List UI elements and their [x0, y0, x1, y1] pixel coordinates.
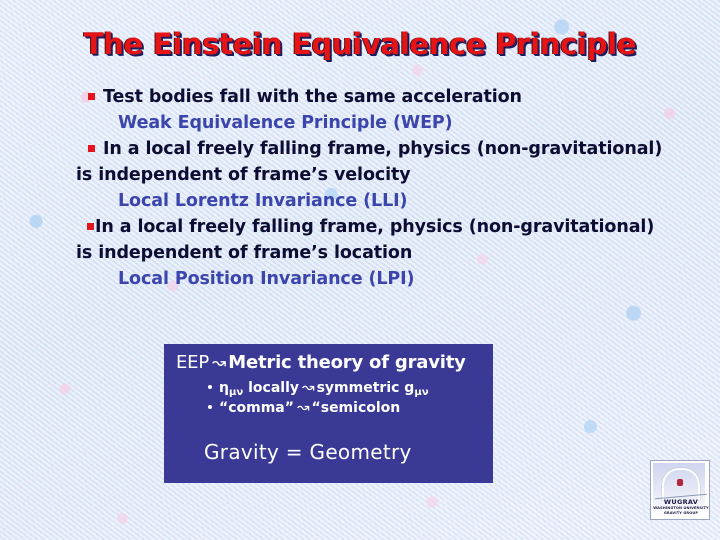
wugrav-logo: WUGRAV WASHINGTON UNIVERSITY GRAVITY GRO…: [650, 460, 710, 520]
eep-sub-2-rhs-base: “semicolon: [312, 400, 401, 416]
eep-box-heading: EEP↝Metric theory of gravity: [176, 352, 466, 373]
curly-arrow-icon: ↝: [294, 398, 312, 416]
square-bullet-icon: [88, 93, 95, 100]
logo-emblem-icon: [677, 479, 683, 486]
eep-sub-1-lhs-tail: locally: [243, 380, 299, 396]
eep-conclusion-box: EEP↝Metric theory of gravity ημν locally…: [164, 344, 493, 483]
bullet-list: Test bodies fall with the same accelerat…: [76, 84, 656, 292]
eep-sub-item-1: ημν locally↝symmetric gμν: [208, 378, 429, 398]
eep-sub-item-2: “comma”↝“semicolon: [208, 398, 400, 416]
bullet-item-3-main: In a local freely falling frame, physics…: [76, 214, 656, 240]
bullet-item-1-main: Test bodies fall with the same accelerat…: [76, 84, 656, 110]
eep-conclusion-text: Gravity = Geometry: [204, 440, 412, 464]
bullet-item-3-continuation: is independent of frame’s location: [76, 240, 656, 266]
page-title: The Einstein Equivalence Principle: [0, 27, 720, 61]
square-bullet-icon: [87, 223, 94, 230]
logo-name: WUGRAV: [653, 498, 709, 506]
eep-sub-1-lhs-sub: μν: [229, 387, 243, 398]
eep-sub-1-rhs-sub: μν: [414, 387, 428, 398]
round-bullet-icon: [208, 405, 212, 409]
bullet-item-2-main-text: In a local freely falling frame, physics…: [103, 139, 662, 159]
bullet-item-1-main-text: Test bodies fall with the same accelerat…: [103, 87, 522, 107]
curly-arrow-icon: ↝: [299, 378, 317, 396]
bullet-item-1-sub: Weak Equivalence Principle (WEP): [76, 110, 656, 136]
curly-arrow-icon: ↝: [209, 353, 228, 373]
bullet-item-2-main: In a local freely falling frame, physics…: [76, 136, 656, 162]
bullet-item-3-main-text: In a local freely falling frame, physics…: [95, 217, 654, 237]
bullet-item-2-sub: Local Lorentz Invariance (LLI): [76, 188, 656, 214]
eep-acronym: EEP: [176, 352, 209, 373]
square-bullet-icon: [88, 145, 95, 152]
bullet-item-3-sub: Local Position Invariance (LPI): [76, 266, 656, 292]
eep-sub-1-lhs-base: η: [219, 380, 229, 396]
logo-text-block: WUGRAV WASHINGTON UNIVERSITY GRAVITY GRO…: [653, 498, 709, 516]
slide-canvas: The Einstein Equivalence Principle Test …: [0, 0, 720, 540]
round-bullet-icon: [208, 385, 212, 389]
logo-subtitle-line-2: GRAVITY GROUP: [653, 511, 709, 516]
eep-heading-result: Metric theory of gravity: [228, 352, 465, 373]
bullet-item-2-continuation: is independent of frame’s velocity: [76, 162, 656, 188]
logo-background: WUGRAV WASHINGTON UNIVERSITY GRAVITY GRO…: [653, 463, 705, 515]
eep-sub-1-rhs-base: symmetric g: [317, 380, 415, 396]
eep-sub-2-lhs-base: “comma”: [219, 400, 294, 416]
